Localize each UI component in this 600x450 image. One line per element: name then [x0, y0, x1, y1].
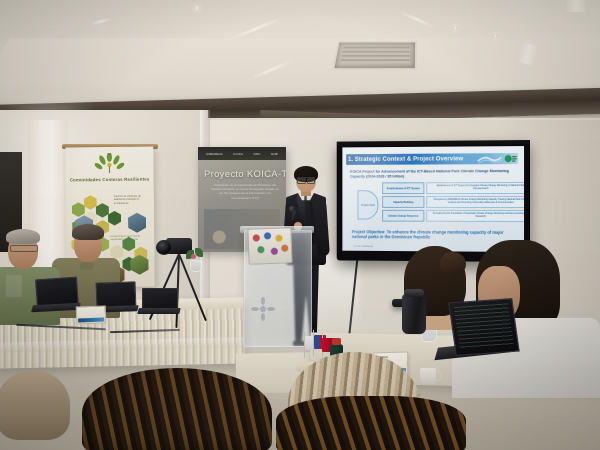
bottle-cap	[332, 338, 341, 345]
logo-mimarena: MIMARENA	[206, 152, 223, 156]
ceiling-spotlight	[194, 6, 200, 10]
slide-diagram: Project Goal Establishment of ICT System…	[357, 182, 518, 225]
ceiling-strip-light	[566, 0, 586, 12]
leaf-logo-icon	[92, 153, 126, 175]
flower-bloom	[191, 254, 196, 259]
diagram-component: Establishment of ICT System	[382, 182, 424, 194]
shirt-pocket	[6, 275, 22, 297]
logo-koica: KOICA	[233, 152, 243, 156]
laptop-code-content	[454, 303, 514, 350]
lectern-sticker-sheet	[247, 227, 292, 265]
diagram-detail: Establishment of ICT System for Integrat…	[426, 182, 524, 194]
attendee-blonde-locs	[276, 396, 466, 450]
diagram-detail: Strengthening MIMARENA Climate Change Mo…	[426, 196, 524, 208]
slide-bullet-main: KOICA Project for Advancement of the ICT…	[350, 169, 516, 179]
presentation-slide: 1. Strategic Context & Project Overview …	[342, 146, 524, 252]
diagram-row: Establishment of ICT System Establishmen…	[382, 182, 524, 194]
speaker-arm-right	[313, 200, 330, 257]
banner-left-title: Comunidades Costeras Resilientes	[66, 177, 154, 183]
banner-center-title: Proyecto KOICA-TIC	[204, 169, 284, 180]
hex-tile	[96, 203, 109, 218]
banner-left-subtitle: Gestión de sistemas de adaptación basada…	[114, 195, 152, 206]
diagram-goal-label: Project Goal	[357, 190, 378, 219]
name-card-band	[78, 318, 104, 323]
logo-onu: ONU	[254, 152, 261, 156]
diagram-row: Climate Change Response Strengthening th…	[382, 210, 524, 222]
glasses-icon	[297, 177, 315, 182]
diagram-row: Capacity Building Strengthening MIMARENA…	[382, 196, 524, 208]
name-tent-card	[76, 305, 107, 324]
diagram-component: Climate Change Response	[382, 210, 424, 222]
microphone-head-icon	[289, 206, 295, 212]
photo-hex-coast	[128, 213, 146, 233]
foreground-laptop-screen	[448, 298, 520, 356]
conference-presentation-photo: Comunidades Costeras Resilientes Gestión…	[0, 0, 600, 450]
leaf	[195, 248, 203, 257]
floral-centerpiece-left	[186, 248, 204, 270]
banner-center-subtitle: Ampliación de la Capacidad de Monitoreo …	[210, 183, 280, 200]
koica-wave-logo-icon	[477, 153, 503, 164]
mug-handle	[434, 371, 441, 381]
logo-gob: GOB	[271, 152, 278, 156]
ceiling-spotlight	[492, 34, 498, 38]
slide-title: 1. Strategic Context & Project Overview	[348, 155, 463, 163]
tv-bezel-top	[337, 140, 530, 146]
diagram-component: Capacity Building	[382, 196, 424, 208]
hair	[72, 224, 104, 240]
tv-screen: 1. Strategic Context & Project Overview …	[342, 146, 524, 252]
ceiling-spotlight	[452, 26, 458, 30]
partner-green-logo-icon	[504, 153, 517, 164]
air-conditioning-vent	[332, 41, 417, 70]
hex-tile	[72, 202, 85, 217]
laptop-base	[137, 308, 180, 314]
attendee-locs-foreground	[82, 368, 272, 450]
glasses-icon	[10, 245, 38, 252]
slide-objective: Project Objective: To enhance the climat…	[352, 229, 514, 240]
thermos-cap	[404, 289, 424, 297]
collar	[80, 262, 94, 270]
thermos	[402, 294, 426, 334]
lectern-emblem-icon	[250, 296, 276, 322]
slide-footer: KOICA / MIMARENA	[354, 246, 373, 248]
diagram-detail: Strengthening the Foundation of Systemat…	[426, 210, 524, 222]
hex-tile	[84, 195, 97, 210]
hair-bun	[440, 252, 466, 276]
attendee-left-foreground	[0, 370, 70, 440]
glass-vase	[190, 260, 202, 272]
grey-hair	[6, 229, 40, 244]
banner-logo-strip: MIMARENA KOICA ONU GOB	[198, 147, 286, 160]
camera-lens-icon	[156, 240, 172, 255]
